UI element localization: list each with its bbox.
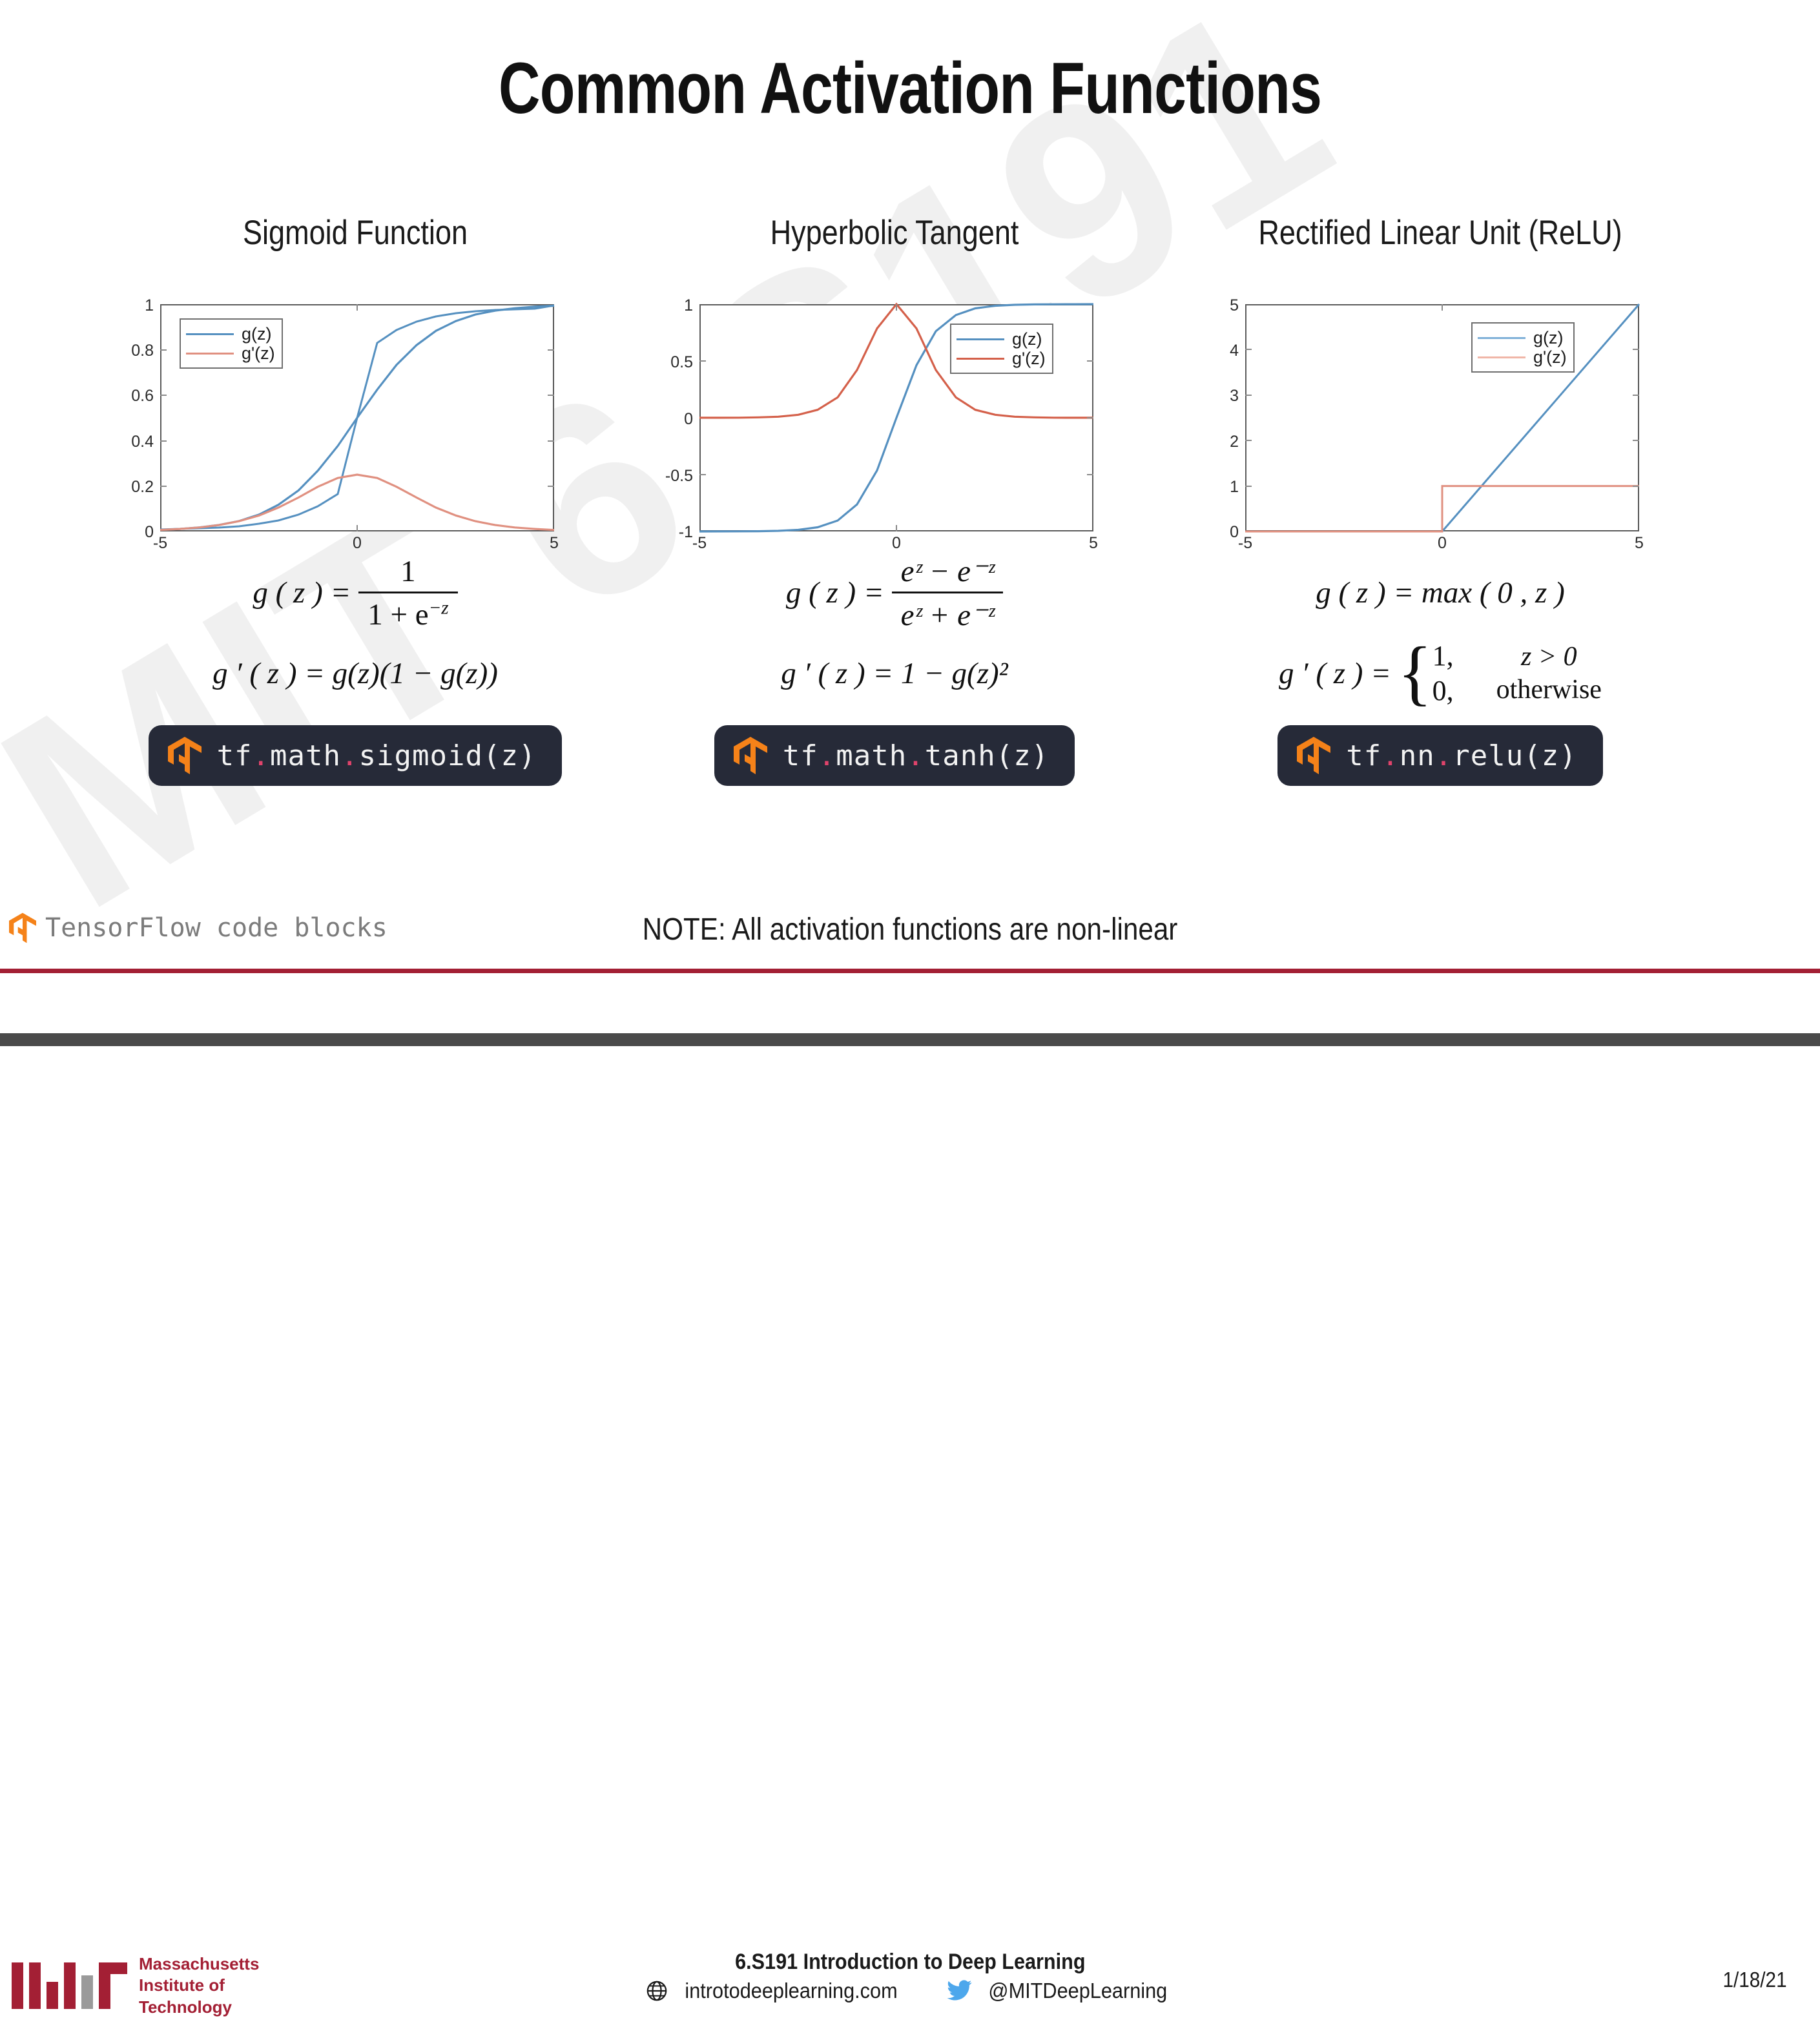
chart-svg-tanh [617,285,1172,543]
code-dot-1: . [253,739,271,772]
equation-main-lhs-tanh: g ( z ) = [786,575,884,610]
twitter-bird-icon [947,1980,973,2002]
column-relu: Rectified Linear Unit (ReLU) 5 4 3 [1163,213,1718,786]
xtick-relu-0: -5 [1229,534,1261,553]
legend-label-gpz: g'(z) [1012,350,1046,367]
xtick-tanh-2: 5 [1077,534,1110,553]
left-brace-icon: { [1398,645,1432,701]
equation-main-sigmoid: g ( z ) = 1 1 + e−z [78,555,633,631]
denominator-base: 1 + e [367,598,428,632]
course-title-wrap: 6.S191 Introduction to Deep Learning [0,1950,1820,1975]
slide-date: 1/18/21 [1722,1968,1786,1992]
legend-swatch-gz [186,333,234,335]
equation-derivative-lhs-relu: g ′ ( z ) = [1279,656,1391,691]
fraction-denominator-sigmoid: 1 + e−z [358,592,457,632]
code-prefix: tf [783,739,818,772]
xtick-sigmoid-0: -5 [144,534,176,553]
footer-center: 6.S191 Introduction to Deep Learning int… [0,1950,1820,2003]
chart-sigmoid: 1 0.8 0.6 0.4 0.2 0 -5 0 5 g(z) g'(z) [78,285,633,543]
tensorflow-logo-icon [168,737,202,774]
equation-main-relu: g ( z ) = max ( 0 , z ) [1163,555,1718,631]
slide-canvas: Common Activation Functions Sigmoid Func… [0,0,1820,1046]
xtick-relu-2: 5 [1623,534,1655,553]
legend-label-gz: g(z) [1533,329,1564,347]
column-header-sigmoid: Sigmoid Function [119,213,592,252]
legend-entry-gz: g(z) [957,329,1046,349]
code-suffix: tanh(z) [925,739,1049,772]
chart-legend-tanh[interactable]: g(z) g'(z) [950,324,1053,374]
equations-sigmoid: g ( z ) = 1 1 + e−z g ′ ( z ) = g(z)(1 −… [78,555,633,697]
piecewise-value-1: 1, [1432,639,1454,674]
legend-swatch-gpz [957,358,1004,360]
column-header-relu: Rectified Linear Unit (ReLU) [1205,213,1677,252]
fraction-denominator-tanh: eᶻ + e⁻ᶻ [892,592,1003,633]
website-link[interactable]: introtodeeplearning.com [646,1979,905,2003]
legend-label-gz: g(z) [242,325,272,343]
code-suffix: sigmoid(z) [359,739,537,772]
column-header-tanh: Hyperbolic Tangent [659,213,1131,252]
footer-links: introtodeeplearning.com @MITDeepLearning [0,1979,1820,2003]
course-title: 6.S191 Introduction to Deep Learning [735,1950,1085,1975]
ytick-tanh-4: 1 [654,296,693,315]
ytick-sigmoid-2: 0.4 [102,433,154,451]
fraction-numerator-tanh: eᶻ − e⁻ᶻ [892,553,1003,592]
tf-code-block-sigmoid[interactable]: tf.math.sigmoid(z) [149,725,563,786]
footer-bottom-bar [0,1033,1820,1046]
legend-swatch-gpz [1478,356,1525,358]
code-dot-1: . [1381,739,1400,772]
legend-label-gpz: g'(z) [1533,349,1567,366]
column-tanh: Hyperbolic Tangent 1 0.5 0 -0.5 -1 - [617,213,1172,786]
ytick-tanh-2: 0 [654,410,693,429]
denominator-exponent: −z [429,597,449,618]
tensorflow-logo-icon [9,912,36,944]
legend-entry-gpz: g'(z) [957,349,1046,368]
code-block-wrap-sigmoid: tf.math.sigmoid(z) [78,725,633,786]
legend-label-gz: g(z) [1012,331,1042,348]
legend-entry-gpz: g'(z) [1478,347,1567,367]
tf-code-block-tanh[interactable]: tf.math.tanh(z) [714,725,1075,786]
slide-footer: Massachusetts Institute of Technology 6.… [0,973,1820,1041]
ytick-relu-4: 4 [1200,342,1239,360]
fraction-tanh: eᶻ − e⁻ᶻ eᶻ + e⁻ᶻ [892,553,1003,633]
equation-derivative-sigmoid: g ′ ( z ) = g(z)(1 − g(z)) [78,650,633,697]
xtick-sigmoid-2: 5 [538,534,570,553]
chart-relu: 5 4 3 2 1 0 -5 0 5 g(z) g'(z) [1163,285,1718,543]
ytick-sigmoid-5: 1 [115,296,154,315]
code-dot-2: . [341,739,359,772]
code-block-wrap-tanh: tf.math.tanh(z) [617,725,1172,786]
website-text: introtodeeplearning.com [685,1979,898,2003]
legend-entry-gz: g(z) [1478,328,1567,347]
code-dot-2: . [907,739,925,772]
xtick-tanh-1: 0 [880,534,913,553]
code-dot-2: . [1435,739,1453,772]
legend-swatch-gz [957,338,1004,340]
piecewise-relu: { 1, 0, z > 0 otherwise [1398,639,1602,708]
ytick-relu-5: 5 [1200,296,1239,315]
equation-main-tanh: g ( z ) = eᶻ − e⁻ᶻ eᶻ + e⁻ᶻ [617,555,1172,631]
fraction-numerator-sigmoid: 1 [391,554,425,592]
ytick-sigmoid-4: 0.8 [102,342,154,360]
column-sigmoid: Sigmoid Function [78,213,633,786]
piecewise-value-2: 0, [1432,674,1454,708]
page-title: Common Activation Functions [182,46,1638,130]
equation-derivative-tanh: g ′ ( z ) = 1 − g(z)² [617,650,1172,697]
code-dot-1: . [818,739,836,772]
equations-tanh: g ( z ) = eᶻ − e⁻ᶻ eᶻ + e⁻ᶻ g ′ ( z ) = … [617,555,1172,697]
ytick-tanh-3: 0.5 [635,353,693,372]
code-mid: math [270,739,341,772]
legend-swatch-gpz [186,353,234,355]
code-mid: math [836,739,907,772]
legend-entry-gpz: g'(z) [186,344,275,363]
tf-code-text-sigmoid: tf.math.sigmoid(z) [217,739,537,772]
globe-icon [646,1980,668,2002]
tensorflow-logo-icon [1297,737,1330,774]
piecewise-condition-2: otherwise [1496,674,1602,706]
ytick-relu-1: 1 [1200,478,1239,497]
tf-code-text-relu: tf.nn.relu(z) [1346,739,1577,772]
note-text: NOTE: All activation functions are non-l… [109,912,1711,947]
chart-svg-sigmoid [78,285,633,543]
piecewise-conditions: z > 0 otherwise [1496,641,1602,706]
twitter-text: @MITDeepLearning [989,1979,1168,2003]
code-prefix: tf [217,739,253,772]
equations-relu: g ( z ) = max ( 0 , z ) g ′ ( z ) = { 1,… [1163,555,1718,697]
legend-swatch-gz [1478,337,1525,339]
tensorflow-logo-icon [734,737,767,774]
chart-svg-relu [1163,285,1718,543]
fraction-sigmoid: 1 1 + e−z [358,554,457,632]
tf-code-text-tanh: tf.math.tanh(z) [783,739,1049,772]
code-mid: nn [1400,739,1435,772]
ytick-relu-3: 3 [1200,387,1239,406]
xtick-relu-1: 0 [1426,534,1458,553]
code-prefix: tf [1346,739,1381,772]
code-suffix: relu(z) [1453,739,1577,772]
code-block-wrap-relu: tf.nn.relu(z) [1163,725,1718,786]
legend-entry-gz: g(z) [186,324,275,344]
equation-derivative-relu: g ′ ( z ) = { 1, 0, z > 0 otherwise [1163,650,1718,697]
twitter-link[interactable]: @MITDeepLearning [947,1979,1174,2003]
tf-code-block-relu[interactable]: tf.nn.relu(z) [1277,725,1602,786]
ytick-tanh-1: -0.5 [628,467,693,486]
piecewise-condition-1: z > 0 [1496,641,1602,674]
ytick-relu-2: 2 [1200,433,1239,451]
chart-legend-sigmoid[interactable]: g(z) g'(z) [180,318,283,369]
equation-main-lhs-sigmoid: g ( z ) = [253,575,351,610]
ytick-sigmoid-3: 0.6 [102,387,154,406]
ytick-sigmoid-1: 0.2 [102,478,154,497]
xtick-sigmoid-1: 0 [341,534,373,553]
footer-rule [0,969,1820,973]
chart-tanh: 1 0.5 0 -0.5 -1 -5 0 5 g(z) g'(z) [617,285,1172,543]
xtick-tanh-0: -5 [683,534,716,553]
chart-legend-relu[interactable]: g(z) g'(z) [1471,322,1575,373]
piecewise-values: 1, 0, [1432,639,1454,708]
legend-label-gpz: g'(z) [242,345,275,362]
